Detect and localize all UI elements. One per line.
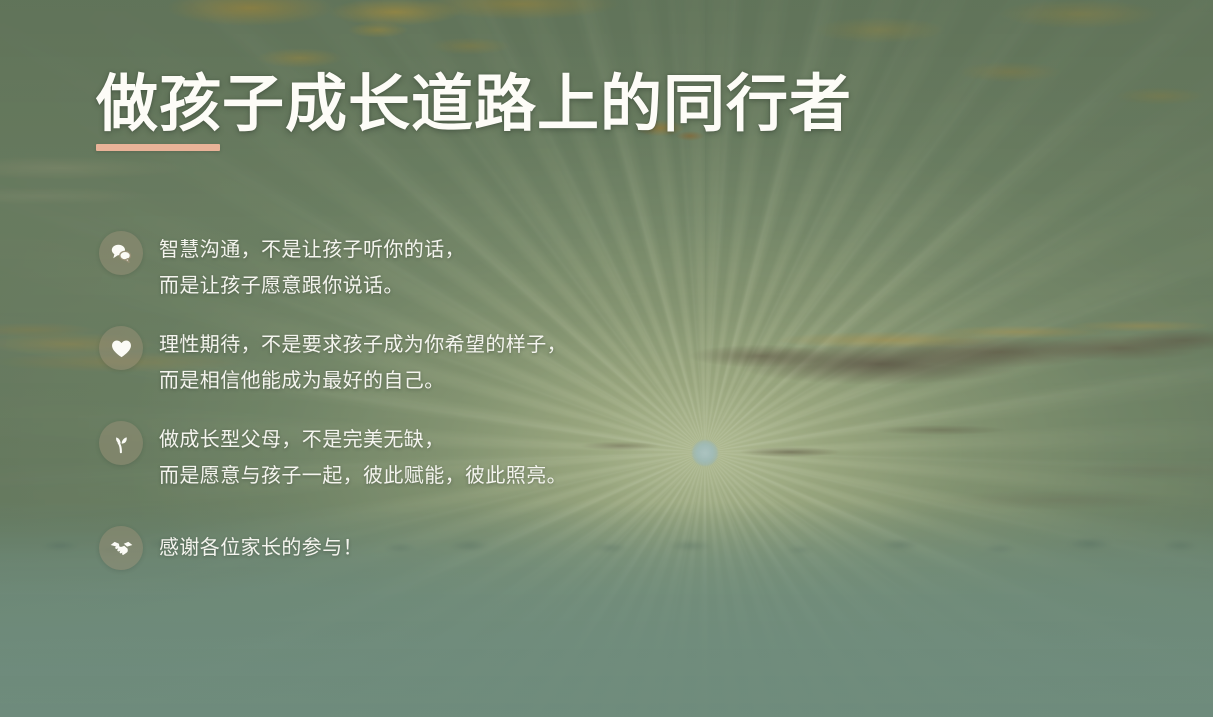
slide-canvas: 做孩子成长道路上的同行者 智慧沟通，不是让孩子听你的话， 而是让孩子愿意跟你说话…	[0, 0, 1213, 717]
list-item-line: 智慧沟通，不是让孩子听你的话，	[159, 232, 465, 268]
seedling-icon	[99, 421, 143, 465]
list-item-text: 理性期待，不是要求孩子成为你希望的样子， 而是相信他能成为最好的自己。	[159, 326, 567, 399]
list-item-line: 做成长型父母，不是完美无缺，	[159, 422, 567, 458]
list-item-line: 而是相信他能成为最好的自己。	[159, 363, 567, 399]
list-item-line: 理性期待，不是要求孩子成为你希望的样子，	[159, 327, 567, 363]
list-item-line: 而是让孩子愿意跟你说话。	[159, 268, 465, 304]
speech-bubbles-icon	[99, 231, 143, 275]
heart-icon	[99, 326, 143, 370]
list-item-text: 智慧沟通，不是让孩子听你的话， 而是让孩子愿意跟你说话。	[159, 231, 465, 304]
list-item: 感谢各位家长的参与！	[99, 526, 999, 570]
list-item-line: 而是愿意与孩子一起，彼此赋能，彼此照亮。	[159, 458, 567, 494]
list-item-line: 感谢各位家长的参与！	[159, 530, 363, 566]
list-item-text: 感谢各位家长的参与！	[159, 526, 363, 566]
slide-content: 做孩子成长道路上的同行者 智慧沟通，不是让孩子听你的话， 而是让孩子愿意跟你说话…	[0, 0, 1213, 717]
list-item: 智慧沟通，不是让孩子听你的话， 而是让孩子愿意跟你说话。	[99, 231, 999, 304]
title-underline-accent	[96, 144, 220, 151]
list-item-text: 做成长型父母，不是完美无缺， 而是愿意与孩子一起，彼此赋能，彼此照亮。	[159, 421, 567, 494]
page-title: 做孩子成长道路上的同行者	[96, 68, 852, 141]
bullet-list: 智慧沟通，不是让孩子听你的话， 而是让孩子愿意跟你说话。 理性期待，不是要求孩子…	[99, 231, 999, 592]
list-item: 做成长型父母，不是完美无缺， 而是愿意与孩子一起，彼此赋能，彼此照亮。	[99, 421, 999, 494]
handshake-icon	[99, 526, 143, 570]
list-item: 理性期待，不是要求孩子成为你希望的样子， 而是相信他能成为最好的自己。	[99, 326, 999, 399]
